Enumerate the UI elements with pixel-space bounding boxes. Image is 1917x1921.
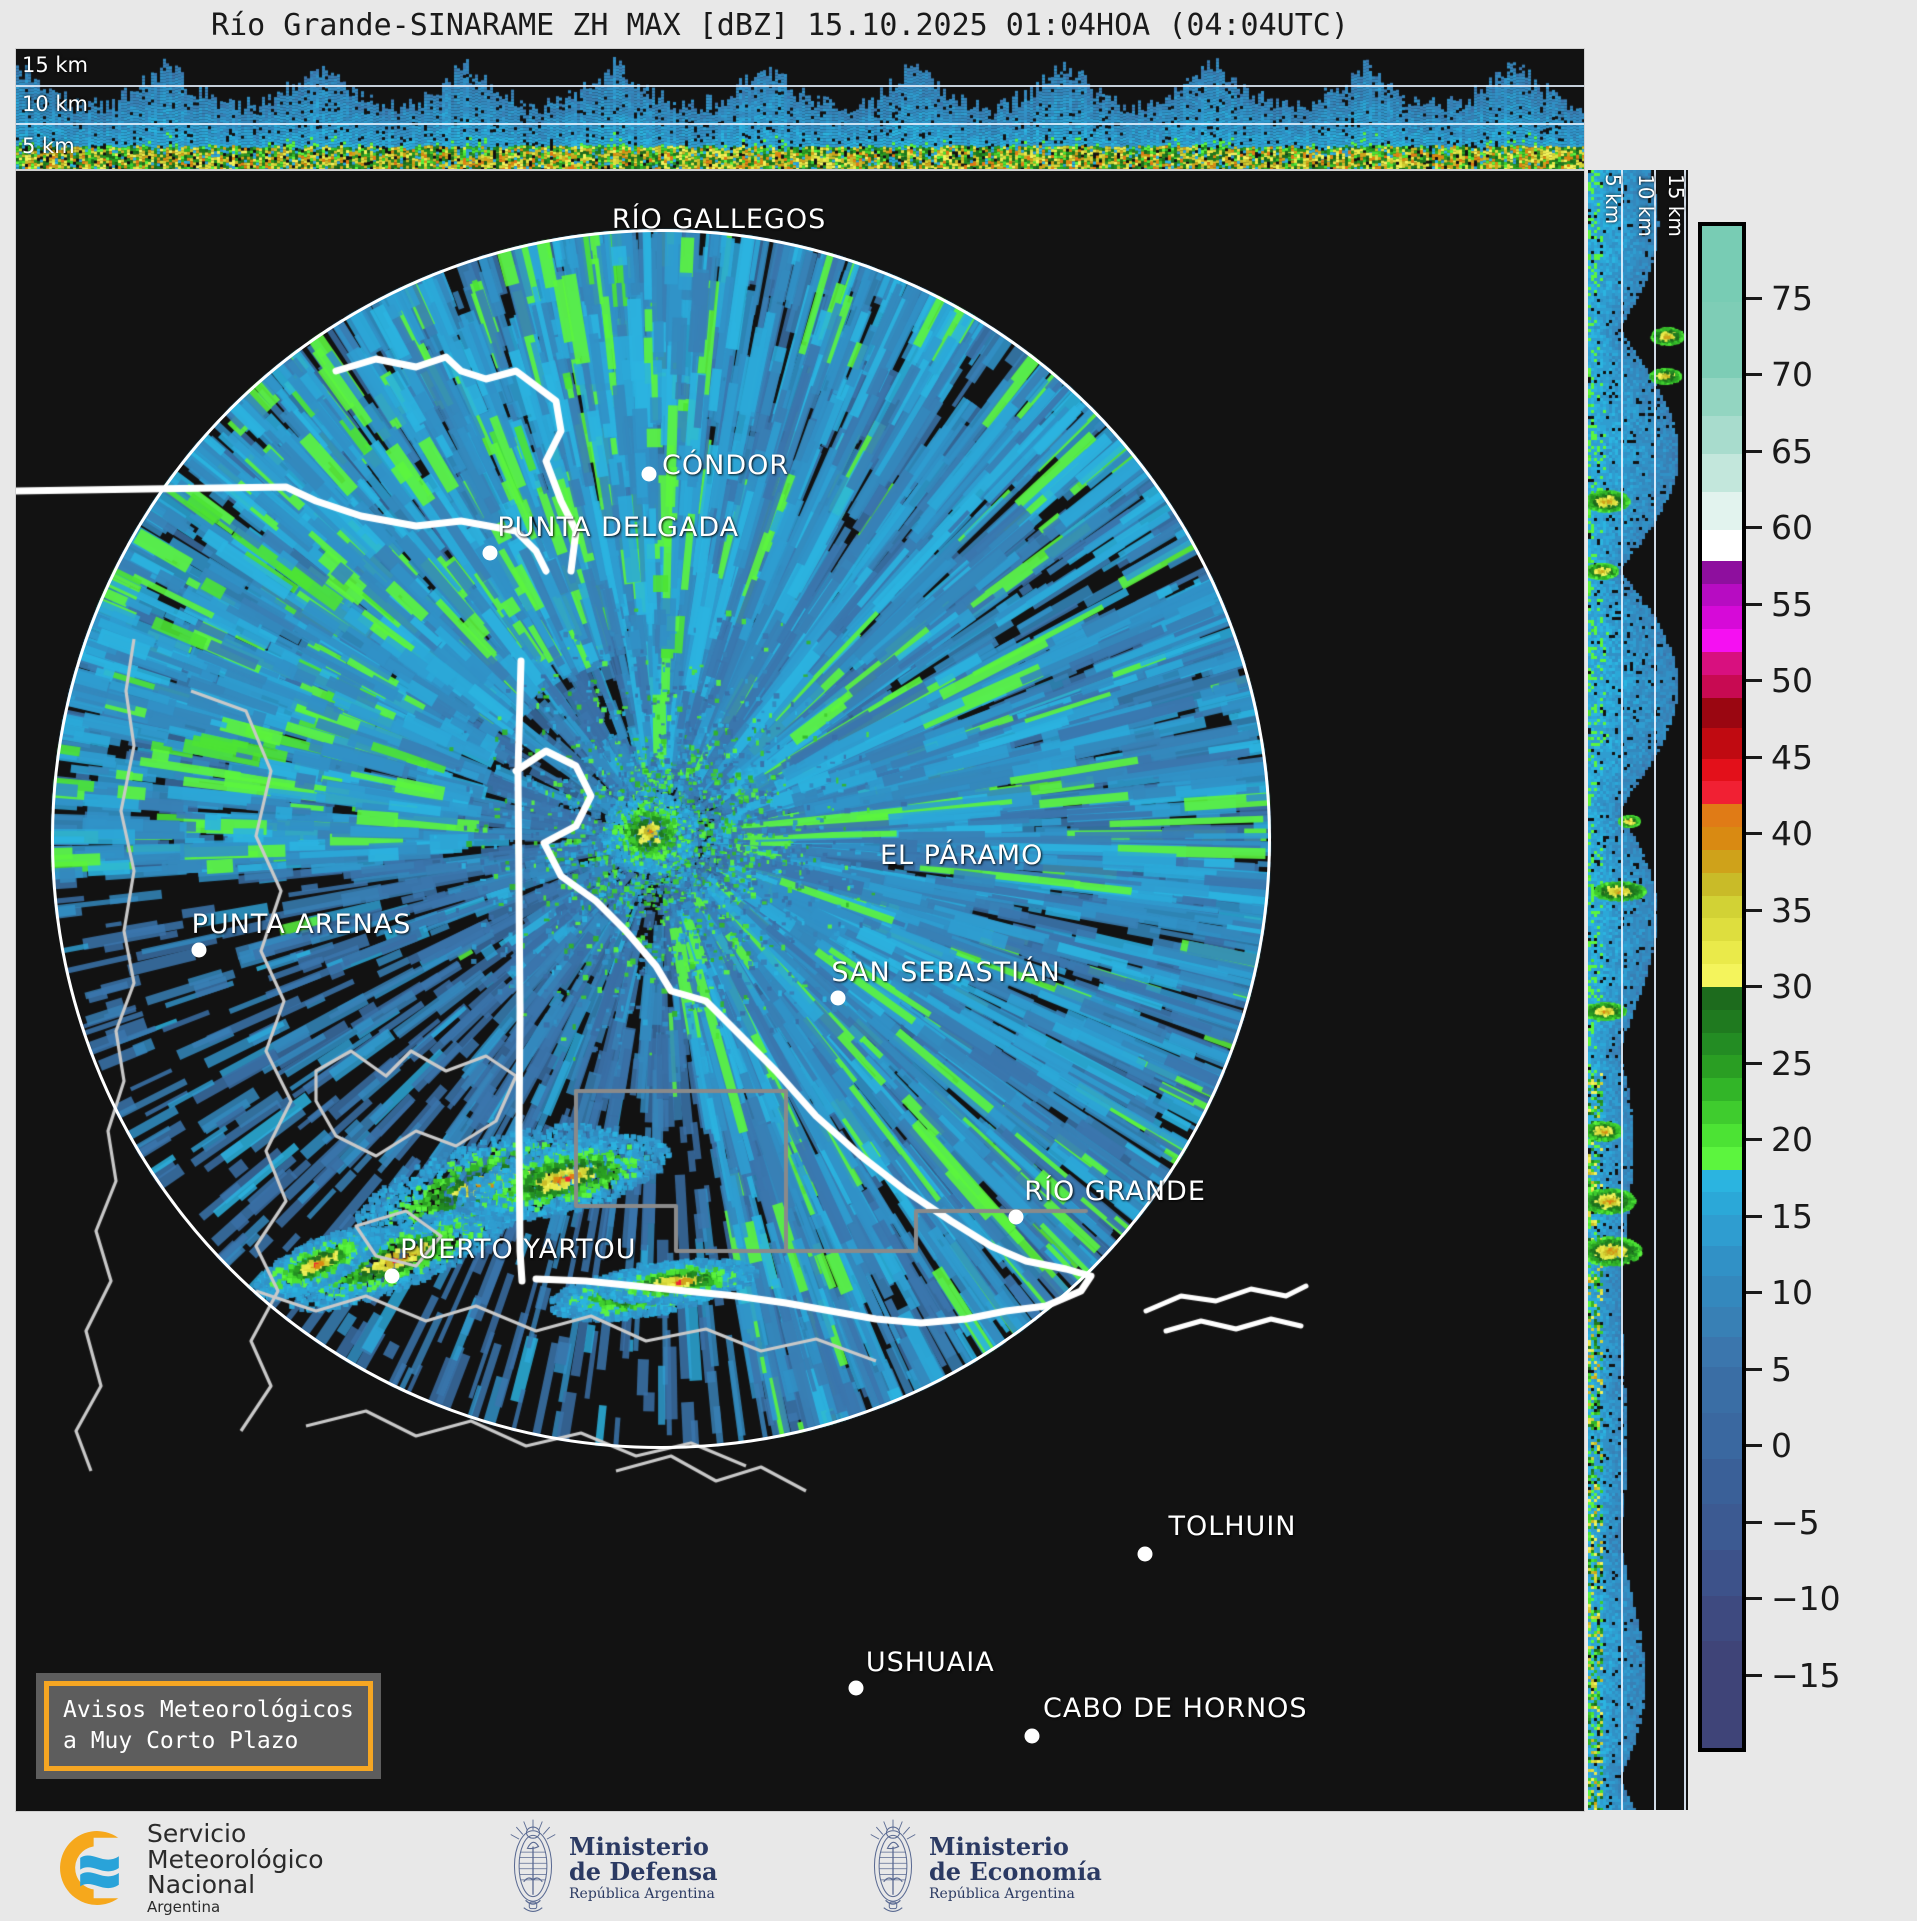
colorbar-segment xyxy=(1702,1307,1742,1337)
colorbar-tick: 15 xyxy=(1746,1197,1813,1236)
colorbar-segment xyxy=(1702,987,1742,1010)
avisos-badge-inner: Avisos Meteorológicos a Muy Corto Plazo xyxy=(44,1681,373,1771)
colorbar-tick-label: 55 xyxy=(1771,585,1813,624)
colorbar-tick: 20 xyxy=(1746,1120,1813,1159)
xsec-gridline-10km xyxy=(16,123,1584,125)
colorbar-tick-dash xyxy=(1746,756,1762,759)
colorbar-tick-label: 20 xyxy=(1771,1120,1813,1159)
colorbar-tick-dash xyxy=(1746,297,1762,300)
colorbar-tick-dash xyxy=(1746,1597,1762,1600)
cross-section-right-panel: 5 km 10 km 15 km xyxy=(1588,170,1688,1810)
colorbar-segment xyxy=(1702,827,1742,850)
colorbar-tick: 60 xyxy=(1746,508,1813,547)
city-label: CABO DE HORNOS xyxy=(1043,1693,1308,1724)
city-marker-dot xyxy=(192,943,207,958)
colorbar-segment xyxy=(1702,964,1742,987)
colorbar-tick-dash xyxy=(1746,832,1762,835)
vsec-gridline-15km xyxy=(1684,170,1686,1810)
colorbar-segment xyxy=(1702,850,1742,873)
city-label: RÍO GRANDE xyxy=(1024,1176,1206,1207)
colorbar-segment xyxy=(1702,781,1742,804)
colorbar-tick: 65 xyxy=(1746,432,1813,471)
economia-wordmark: Ministerio de Economía República Argenti… xyxy=(929,1834,1102,1902)
colorbar-tick-label: 0 xyxy=(1771,1426,1792,1465)
colorbar-tick-label: 25 xyxy=(1771,1044,1813,1083)
colorbar-tick-dash xyxy=(1746,526,1762,529)
colorbar-segment xyxy=(1702,226,1742,302)
defensa-line-2: de Defensa xyxy=(569,1859,718,1884)
city-marker-dot xyxy=(830,990,845,1005)
vsec-label-10km: 10 km xyxy=(1634,174,1658,237)
cross-section-top-panel: 15 km 10 km 5 km xyxy=(15,48,1585,170)
colorbar-tick-label: 10 xyxy=(1771,1273,1813,1312)
colorbar-segment xyxy=(1702,1101,1742,1124)
colorbar-tick-label: 75 xyxy=(1771,279,1813,318)
vsec-gridline-5km xyxy=(1621,170,1623,1810)
logo-ministerio-de-defensa: Ministerio de Defensa República Argentin… xyxy=(505,1815,718,1921)
colorbar-tick-label: 50 xyxy=(1771,661,1813,700)
colorbar-tick: 35 xyxy=(1746,891,1813,930)
colorbar-tick: 0 xyxy=(1746,1426,1792,1465)
colorbar-tick: 55 xyxy=(1746,585,1813,624)
colorbar-tick-label: 30 xyxy=(1771,967,1813,1006)
city-label: PUNTA DELGADA xyxy=(497,512,739,543)
colorbar-tick-dash xyxy=(1746,603,1762,606)
colorbar-tick-dash xyxy=(1746,1674,1762,1677)
colorbar-segment xyxy=(1702,941,1742,964)
economia-line-3: República Argentina xyxy=(929,1887,1102,1902)
colorbar-segment xyxy=(1702,675,1742,698)
colorbar-segment xyxy=(1702,1413,1742,1459)
footer-logos: Servicio Meteorológico Nacional Argentin… xyxy=(0,1809,1917,1909)
colorbar-segment xyxy=(1702,1459,1742,1505)
colorbar-segment xyxy=(1702,1192,1742,1215)
colorbar-tick-dash xyxy=(1746,909,1762,912)
colorbar-segment xyxy=(1702,1124,1742,1147)
city-marker-dot xyxy=(385,1269,400,1284)
smn-emblem-icon xyxy=(55,1826,139,1910)
colorbar-tick-dash xyxy=(1746,985,1762,988)
page-title: Río Grande-SINARAME ZH MAX [dBZ] 15.10.2… xyxy=(0,8,1560,43)
economia-line-1: Ministerio xyxy=(929,1834,1102,1859)
avisos-line-1: Avisos Meteorológicos xyxy=(63,1695,354,1726)
xsec-gridline-15km xyxy=(16,85,1584,87)
colorbar-tick-label: −15 xyxy=(1771,1656,1841,1695)
colorbar-segment xyxy=(1702,584,1742,607)
argentina-shield-icon xyxy=(865,1815,921,1921)
colorbar-segment xyxy=(1702,530,1742,560)
colorbar-segment xyxy=(1702,1641,1742,1748)
colorbar-tick-dash xyxy=(1746,373,1762,376)
colorbar-tick-label: 15 xyxy=(1771,1197,1813,1236)
colorbar-segment xyxy=(1702,1147,1742,1170)
city-marker-dot xyxy=(849,1681,864,1696)
colorbar-tick: 50 xyxy=(1746,661,1813,700)
xsec-label-15km: 15 km xyxy=(22,53,88,77)
colorbar-segment xyxy=(1702,873,1742,896)
colorbar-segment xyxy=(1702,759,1742,782)
colorbar-tick-dash xyxy=(1746,1368,1762,1371)
colorbar-tick: −5 xyxy=(1746,1503,1820,1542)
colorbar-segment xyxy=(1702,629,1742,652)
colorbar-tick-dash xyxy=(1746,1215,1762,1218)
colorbar-tick: 75 xyxy=(1746,279,1813,318)
vsec-label-5km: 5 km xyxy=(1601,174,1625,224)
city-label: USHUAIA xyxy=(866,1647,995,1678)
colorbar-tick-label: 5 xyxy=(1771,1350,1792,1389)
smn-line-4: Argentina xyxy=(147,1900,324,1915)
defensa-line-3: República Argentina xyxy=(569,1887,718,1902)
colorbar-segment xyxy=(1702,561,1742,584)
argentina-shield-icon xyxy=(505,1815,561,1921)
vsec-gridline-10km xyxy=(1654,170,1656,1810)
city-marker-dot xyxy=(1025,1728,1040,1743)
colorbar-segment xyxy=(1702,652,1742,675)
economia-line-2: de Economía xyxy=(929,1859,1102,1884)
colorbar-tick: 25 xyxy=(1746,1044,1813,1083)
city-marker-dot xyxy=(482,546,497,561)
colorbar-segment xyxy=(1702,606,1742,629)
colorbar-tick-label: 40 xyxy=(1771,814,1813,853)
colorbar-segment xyxy=(1702,1596,1742,1642)
colorbar-tick-label: 60 xyxy=(1771,508,1813,547)
logo-servicio-meteorologico-nacional: Servicio Meteorológico Nacional Argentin… xyxy=(55,1821,324,1915)
colorbar-tick: 10 xyxy=(1746,1273,1813,1312)
colorbar xyxy=(1698,222,1746,1752)
colorbar-segment xyxy=(1702,1078,1742,1101)
smn-wordmark: Servicio Meteorológico Nacional Argentin… xyxy=(147,1821,324,1915)
colorbar-tick: −15 xyxy=(1746,1656,1841,1695)
colorbar-segment xyxy=(1702,1055,1742,1078)
logo-ministerio-de-economia: Ministerio de Economía República Argenti… xyxy=(865,1815,1102,1921)
colorbar-tick-dash xyxy=(1746,1291,1762,1294)
avisos-badge[interactable]: Avisos Meteorológicos a Muy Corto Plazo xyxy=(36,1673,381,1779)
colorbar-segment xyxy=(1702,1367,1742,1413)
city-marker-dot xyxy=(1009,1210,1024,1225)
defensa-line-1: Ministerio xyxy=(569,1834,718,1859)
vsec-label-15km: 15 km xyxy=(1664,174,1688,237)
colorbar-tick-dash xyxy=(1746,1521,1762,1524)
colorbar-segment xyxy=(1702,1246,1742,1276)
radar-ppi-panel[interactable]: RÍO GALLEGOSCÓNDORPUNTA DELGADAPUNTA ARE… xyxy=(15,170,1585,1812)
colorbar-tick-dash xyxy=(1746,1444,1762,1447)
colorbar-tick-label: −10 xyxy=(1771,1579,1841,1618)
colorbar-tick-dash xyxy=(1746,679,1762,682)
colorbar-tick-label: 70 xyxy=(1771,355,1813,394)
city-label: SAN SEBASTIÁN xyxy=(831,957,1060,988)
colorbar-tick-label: 65 xyxy=(1771,432,1813,471)
colorbar-segment xyxy=(1702,492,1742,530)
defensa-wordmark: Ministerio de Defensa República Argentin… xyxy=(569,1834,718,1902)
colorbar-segment xyxy=(1702,1337,1742,1367)
colorbar-ticks: 757065605550454035302520151050−5−10−15 xyxy=(1746,222,1906,1752)
smn-line-3: Nacional xyxy=(147,1872,324,1898)
city-label: CÓNDOR xyxy=(662,450,789,481)
avisos-line-2: a Muy Corto Plazo xyxy=(63,1726,354,1757)
city-label: RÍO GALLEGOS xyxy=(612,204,826,235)
colorbar-segment xyxy=(1702,1276,1742,1306)
colorbar-segment xyxy=(1702,728,1742,758)
colorbar-tick-label: −5 xyxy=(1771,1503,1820,1542)
colorbar-segment xyxy=(1702,918,1742,941)
colorbar-segment xyxy=(1702,454,1742,492)
colorbar-tick-label: 45 xyxy=(1771,738,1813,777)
colorbar-tick: 45 xyxy=(1746,738,1813,777)
city-label: PUNTA ARENAS xyxy=(192,909,412,940)
colorbar-segment xyxy=(1702,1550,1742,1596)
colorbar-tick: 5 xyxy=(1746,1350,1792,1389)
colorbar-segment xyxy=(1702,1033,1742,1056)
city-label: EL PÁRAMO xyxy=(880,840,1043,871)
colorbar-segment xyxy=(1702,896,1742,919)
xsec-label-5km: 5 km xyxy=(22,134,75,158)
colorbar-tick: 40 xyxy=(1746,814,1813,853)
city-marker-dot xyxy=(642,467,657,482)
colorbar-tick-label: 35 xyxy=(1771,891,1813,930)
colorbar-tick-dash xyxy=(1746,450,1762,453)
colorbar-segment xyxy=(1702,1010,1742,1033)
colorbar-tick: 70 xyxy=(1746,355,1813,394)
city-marker-dot xyxy=(1137,1546,1152,1561)
smn-line-1: Servicio xyxy=(147,1821,324,1847)
colorbar-segment xyxy=(1702,804,1742,827)
colorbar-segment xyxy=(1702,1504,1742,1550)
colorbar-segment xyxy=(1702,698,1742,728)
colorbar-tick: 30 xyxy=(1746,967,1813,1006)
smn-line-2: Meteorológico xyxy=(147,1847,324,1873)
xsec-label-10km: 10 km xyxy=(22,92,88,116)
colorbar-segment xyxy=(1702,1170,1742,1193)
city-label: TOLHUIN xyxy=(1168,1511,1296,1542)
colorbar-segment xyxy=(1702,1215,1742,1245)
colorbar-tick: −10 xyxy=(1746,1579,1841,1618)
colorbar-segment xyxy=(1702,416,1742,454)
range-ring-240km xyxy=(51,229,1271,1449)
city-label: PUERTO YARTOU xyxy=(400,1234,636,1265)
colorbar-segment xyxy=(1702,302,1742,378)
colorbar-segment xyxy=(1702,378,1742,416)
colorbar-tick-dash xyxy=(1746,1138,1762,1141)
colorbar-tick-dash xyxy=(1746,1062,1762,1065)
